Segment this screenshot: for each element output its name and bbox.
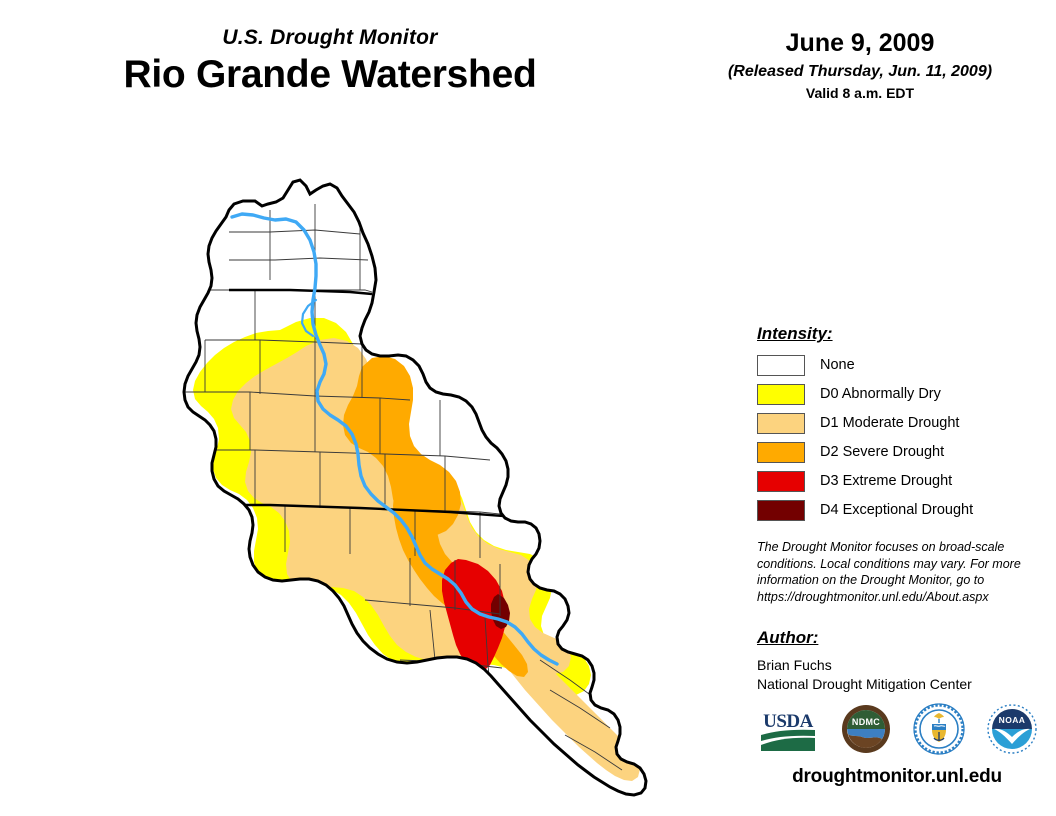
legend-swatch-none [757,355,805,376]
drought-map [110,160,730,800]
date-block: June 9, 2009 (Released Thursday, Jun. 11… [690,30,1030,101]
release-date: (Released Thursday, Jun. 11, 2009) [690,63,1030,81]
legend-label-d4: D4 Exceptional Drought [820,503,973,518]
svg-text:NDMC: NDMC [852,717,880,727]
noaa-logo: NOAA [987,704,1037,759]
legend-label-d1: D1 Moderate Drought [820,416,959,431]
author-organization: National Drought Mitigation Center [757,675,1037,694]
program-title: U.S. Drought Monitor [0,26,660,49]
legend-item-d2: D2 Severe Drought [757,438,1047,467]
title-block: U.S. Drought Monitor Rio Grande Watershe… [0,26,660,98]
commerce-logo [913,703,965,760]
disclaimer-text: The Drought Monitor focuses on broad-sca… [757,539,1025,606]
legend-label-d0: D0 Abnormally Dry [820,387,941,402]
site-url: droughtmonitor.unl.edu [757,766,1037,788]
legend-label-d3: D3 Extreme Drought [820,474,952,489]
legend-swatch-d0 [757,384,805,405]
legend-item-d1: D1 Moderate Drought [757,409,1047,438]
legend-item-none: None [757,351,1047,380]
author-name: Brian Fuchs [757,656,1037,675]
svg-text:NOAA: NOAA [999,715,1026,725]
legend-heading: Intensity: [757,324,1047,344]
svg-text:USDA: USDA [763,711,814,732]
legend-item-d3: D3 Extreme Drought [757,467,1047,496]
valid-time: Valid 8 a.m. EDT [690,86,1030,101]
logo-row: USDA NDMC [757,703,1037,759]
map-date: June 9, 2009 [690,30,1030,58]
usda-logo: USDA [757,705,819,758]
legend-swatch-d1 [757,413,805,434]
legend-item-d4: D4 Exceptional Drought [757,496,1047,525]
legend-swatch-d3 [757,471,805,492]
author-heading: Author: [757,628,1037,648]
legend-item-d0: D0 Abnormally Dry [757,380,1047,409]
legend-label-none: None [820,358,855,373]
legend-swatch-d2 [757,442,805,463]
legend-label-d2: D2 Severe Drought [820,445,944,460]
drought-fill-layer [110,160,730,800]
legend-swatch-d4 [757,500,805,521]
author-block: Author: Brian Fuchs National Drought Mit… [757,628,1037,694]
legend: Intensity: None D0 Abnormally Dry D1 Mod… [757,324,1047,525]
ndmc-logo: NDMC [841,704,891,759]
page-title: Rio Grande Watershed [0,53,660,98]
